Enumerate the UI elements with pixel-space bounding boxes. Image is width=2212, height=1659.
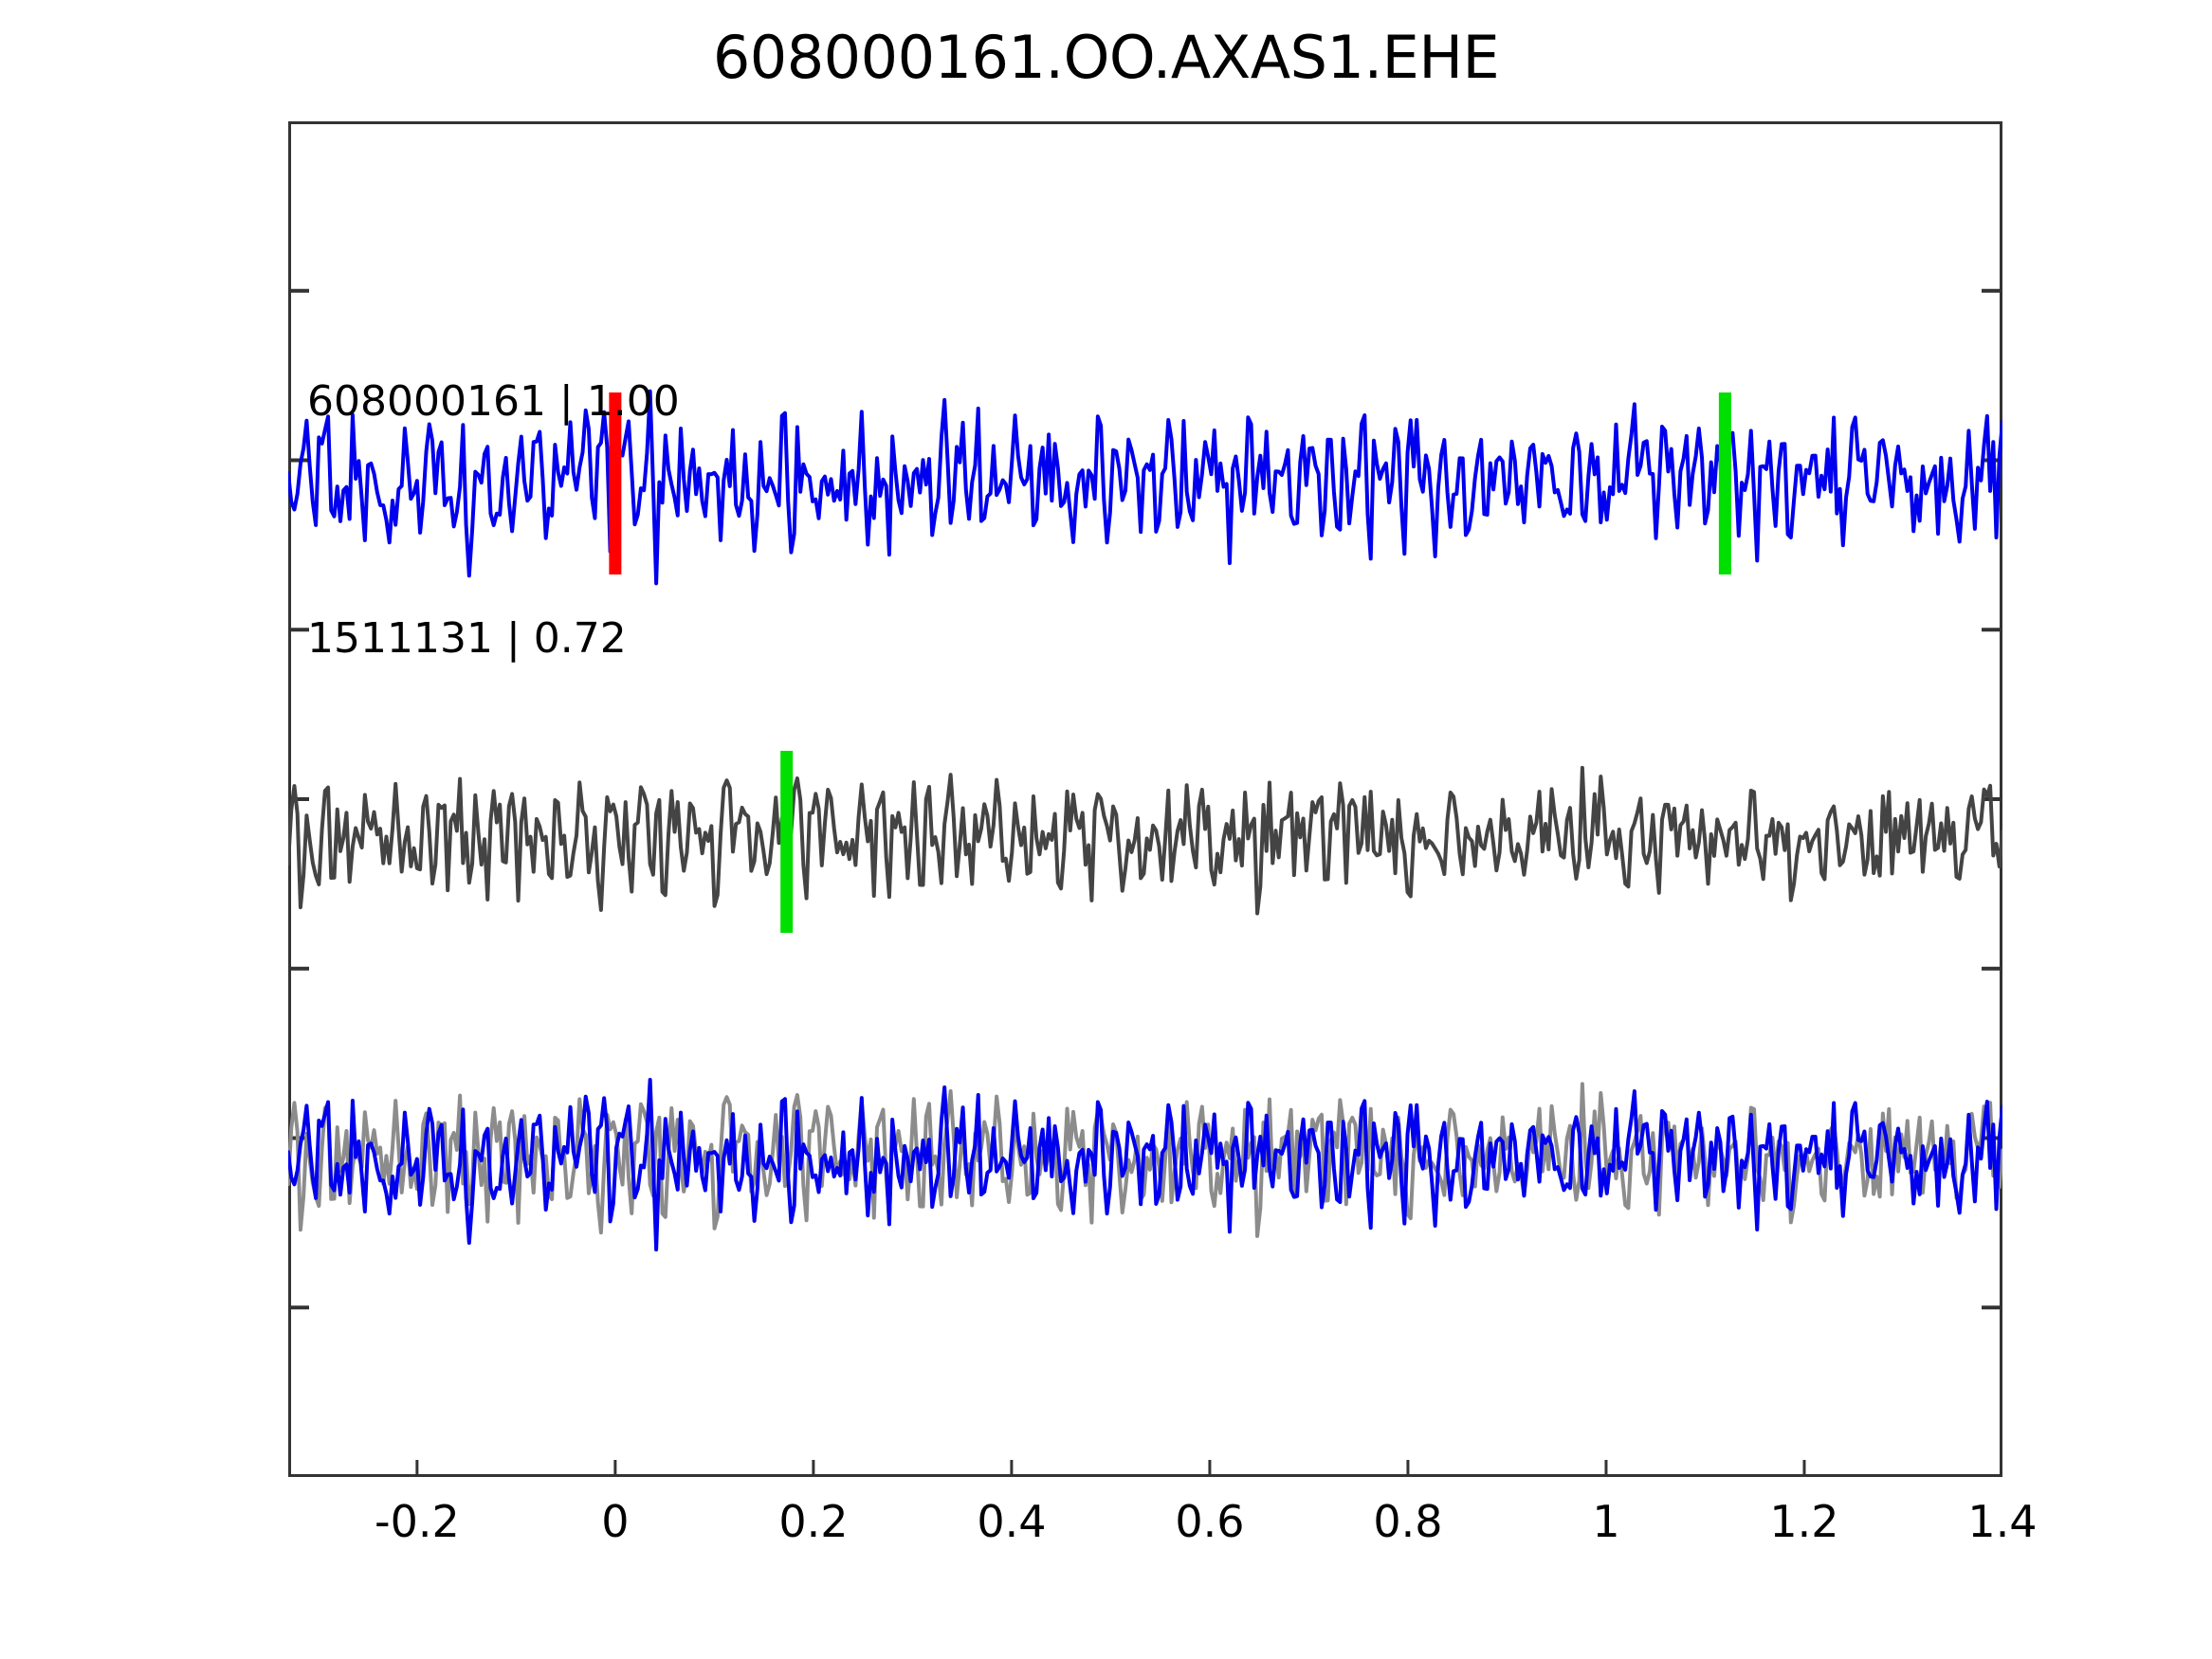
x-tick-label-8: 1.4 [1967, 1496, 2037, 1547]
x-tick-label-0: -0.2 [375, 1496, 460, 1547]
trace-label-secondary: 1511131 | 0.72 [307, 614, 627, 663]
x-tick-label-6: 1 [1592, 1496, 1619, 1547]
x-tick-label-4: 0.6 [1175, 1496, 1244, 1547]
x-tick-label-2: 0.2 [778, 1496, 848, 1547]
axes-frame [290, 123, 2002, 1476]
figure-root: 608000161.OO.AXAS1.EHE 608000161 | 1.00 … [0, 0, 2212, 1659]
x-tick-label-1: 0 [601, 1496, 629, 1547]
plot-area: 608000161 | 1.00 1511131 | 0.72 [288, 121, 2002, 1477]
chart-title: 608000161.OO.AXAS1.EHE [0, 23, 2212, 92]
x-axis-tick-labels: -0.200.20.40.60.811.21.4 [288, 1496, 2002, 1562]
x-tick-label-3: 0.4 [977, 1496, 1046, 1547]
trace-label-primary: 608000161 | 1.00 [307, 377, 680, 426]
waveform-plot-svg [288, 121, 2002, 1477]
waveform-secondary [288, 768, 2002, 914]
x-tick-label-5: 0.8 [1373, 1496, 1442, 1547]
x-tick-label-7: 1.2 [1769, 1496, 1838, 1547]
